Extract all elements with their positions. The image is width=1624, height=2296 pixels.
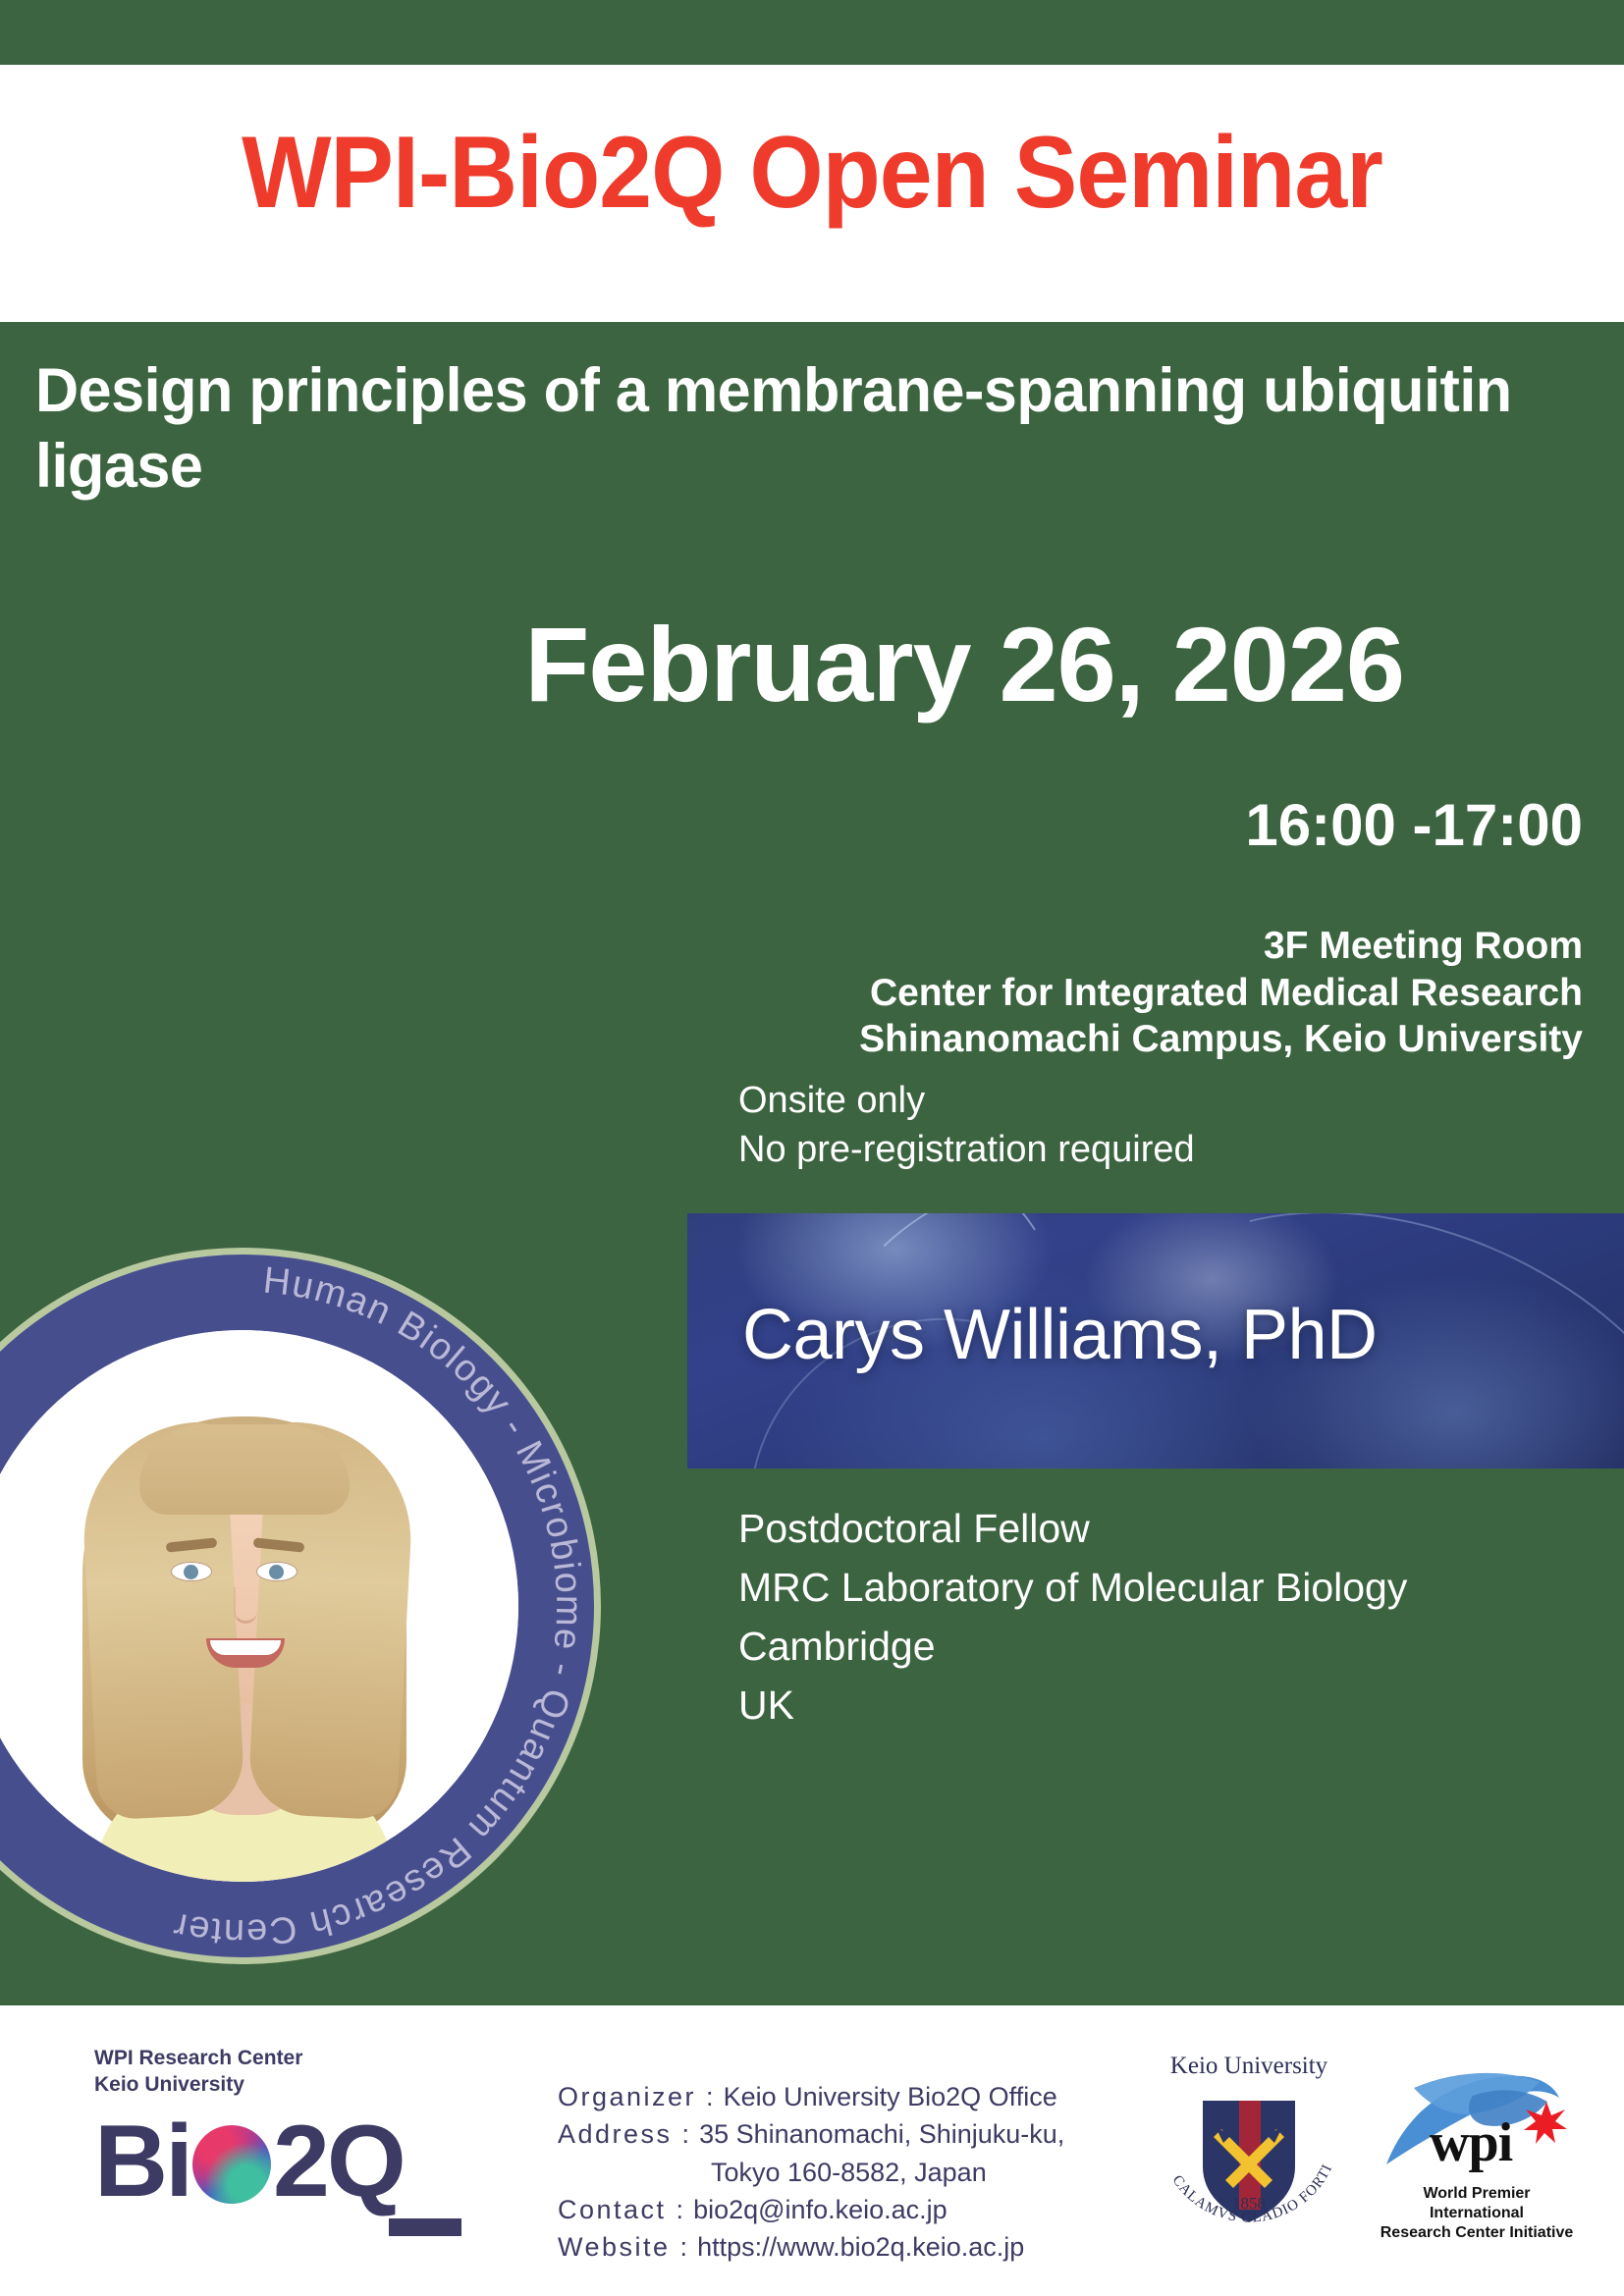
seminar-poster: WPI-Bio2Q Open Seminar Design principles… (0, 0, 1624, 2296)
contact-row-website: Website : https://www.bio2q.keio.ac.jp (558, 2228, 1064, 2266)
speaker-name-band: Carys Williams, PhD (687, 1213, 1624, 1468)
contact-email-value[interactable]: bio2q@info.keio.ac.jp (693, 2195, 947, 2224)
affiliation-line-country: UK (738, 1677, 1602, 1735)
wpi-wordmark: wpi (1430, 2115, 1512, 2170)
wpi-caption-line1: World Premier International (1379, 2184, 1575, 2223)
portrait-badge: Human Biology - Microbiome - Quantum Res… (0, 1248, 601, 1964)
contact-row-address: Address : 35 Shinanomachi, Shinjuku-ku, (558, 2115, 1064, 2153)
seminar-title: WPI-Bio2Q Open Seminar (57, 120, 1567, 227)
venue-line-room: 3F Meeting Room (0, 923, 1583, 970)
organizer-value: Keio University Bio2Q Office (724, 2082, 1057, 2111)
bio2q-sphere-icon (192, 2125, 271, 2204)
contact-label: Contact : (558, 2195, 686, 2224)
affiliation-line-city: Cambridge (738, 1618, 1602, 1677)
bio2q-underline (389, 2218, 461, 2236)
contact-row-email: Contact : bio2q@info.keio.ac.jp (558, 2191, 1064, 2228)
venue-line-center: Center for Integrated Medical Research (0, 970, 1583, 1017)
venue-line-campus: Shinanomachi Campus, Keio University (0, 1016, 1583, 1063)
wpi-caption: World Premier International Research Cen… (1379, 2184, 1575, 2243)
bio2q-wordmark-prefix: Bi (94, 2105, 190, 2218)
website-value[interactable]: https://www.bio2q.keio.ac.jp (697, 2232, 1024, 2262)
bio2q-wordmark-suffix: 2Q (273, 2105, 404, 2218)
registration-line-nopre: No pre-registration required (738, 1125, 1602, 1174)
bio2q-caption-line2: Keio University (94, 2071, 507, 2098)
address-value-line2: Tokyo 160-8582, Japan (711, 2158, 987, 2187)
contact-row-address-2: Tokyo 160-8582, Japan (558, 2154, 1064, 2191)
contact-row-organizer: Organizer : Keio University Bio2Q Office (558, 2078, 1064, 2115)
top-green-strip (0, 0, 1624, 65)
keio-founded-year: 1858 (1151, 2194, 1347, 2214)
registration-line-onsite: Onsite only (738, 1076, 1602, 1125)
keio-university-logo: Keio University (1151, 2053, 1347, 2233)
affiliation-line-institute: MRC Laboratory of Molecular Biology (738, 1559, 1602, 1618)
registration-block: Onsite only No pre-registration required (738, 1076, 1602, 1174)
talk-date: February 26, 2026 (0, 612, 1404, 718)
bio2q-logo: WPI Research Center Keio University Bi2Q (94, 2045, 507, 2224)
keio-shield-wrap: CALAMVS GLADIO FORTIOR 1858 (1151, 2086, 1347, 2233)
poster-footer: WPI Research Center Keio University Bi2Q… (0, 2005, 1624, 2296)
contact-block: Organizer : Keio University Bio2Q Office… (558, 2078, 1064, 2267)
portrait-ring-text: Human Biology - Microbiome - Quantum Res… (0, 1248, 601, 1964)
talk-time: 16:00 -17:00 (0, 796, 1583, 855)
speaker-name: Carys Williams, PhD (742, 1300, 1378, 1370)
address-value-line1: 35 Shinanomachi, Shinjuku-ku, (699, 2119, 1064, 2149)
portrait-ring-label: Human Biology - Microbiome - Quantum Res… (169, 1259, 589, 1952)
wpi-logo: wpi World Premier International Research… (1379, 2058, 1575, 2243)
bio2q-wordmark: Bi2Q (94, 2110, 507, 2224)
bio2q-logo-caption: WPI Research Center Keio University (94, 2045, 507, 2099)
talk-title: Design principles of a membrane-spanning… (35, 353, 1559, 505)
affiliation-line-position: Postdoctoral Fellow (738, 1500, 1602, 1559)
website-label: Website : (558, 2232, 690, 2262)
poster-body: Design principles of a membrane-spanning… (0, 322, 1624, 2005)
speaker-affiliation: Postdoctoral Fellow MRC Laboratory of Mo… (738, 1500, 1602, 1735)
organizer-label: Organizer : (558, 2082, 716, 2111)
venue-block: 3F Meeting Room Center for Integrated Me… (0, 923, 1583, 1063)
keio-logo-name: Keio University (1151, 2053, 1347, 2080)
wpi-caption-line2: Research Center Initiative (1379, 2223, 1575, 2243)
wpi-mark: wpi (1379, 2058, 1575, 2184)
address-label: Address : (558, 2119, 692, 2149)
title-band: WPI-Bio2Q Open Seminar (0, 65, 1624, 322)
bio2q-caption-line1: WPI Research Center (94, 2045, 507, 2071)
